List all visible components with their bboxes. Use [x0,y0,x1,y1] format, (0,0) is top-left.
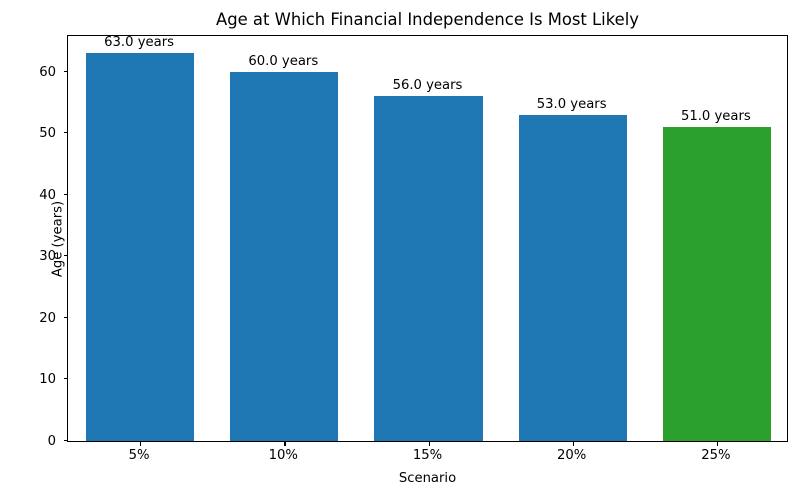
chart-title: Age at Which Financial Independence Is M… [67,10,788,30]
x-axis-tick-mark [140,441,141,446]
bar-10pct [230,72,338,441]
y-axis-tick-mark [64,194,69,195]
y-axis-tick-mark [64,255,69,256]
bar-25pct [663,127,771,441]
y-axis-label: Age (years) [51,200,66,276]
plot-area: Age (years) [67,35,788,442]
bar-value-label: 63.0 years [59,35,219,51]
x-axis-tick-label: 15% [368,448,488,464]
y-axis-tick-label: 0 [0,435,56,449]
y-axis-tick-mark [64,440,69,441]
y-axis-tick-label: 20 [0,312,56,326]
y-axis-tick-label: 60 [0,66,56,80]
x-axis-tick-label: 25% [656,448,776,464]
bar-15pct [374,96,482,441]
bar-value-label: 60.0 years [203,54,363,70]
x-axis-tick-mark [573,441,574,446]
y-axis-tick-mark [64,132,69,133]
chart-figure: Age at Which Financial Independence Is M… [0,0,800,500]
bar-value-label: 56.0 years [348,78,508,94]
x-axis-tick-label: 10% [223,448,343,464]
x-axis-tick-mark [429,441,430,446]
x-axis-tick-label: 20% [512,448,632,464]
y-axis-tick-mark [64,71,69,72]
y-axis-tick-mark [64,378,69,379]
bar-5pct [86,53,194,441]
y-axis-tick-label: 10 [0,373,56,387]
y-axis-tick-mark [64,317,69,318]
x-axis-tick-mark [284,441,285,446]
y-axis-tick-label: 30 [0,250,56,264]
x-axis-tick-label: 5% [79,448,199,464]
x-axis-label: Scenario [67,471,788,486]
bar-value-label: 53.0 years [492,97,652,113]
x-axis-tick-mark [717,441,718,446]
bar-value-label: 51.0 years [636,109,796,125]
y-axis-tick-label: 40 [0,189,56,203]
bar-20pct [519,115,627,441]
y-axis-tick-label: 50 [0,127,56,141]
bars-layer [68,36,787,441]
